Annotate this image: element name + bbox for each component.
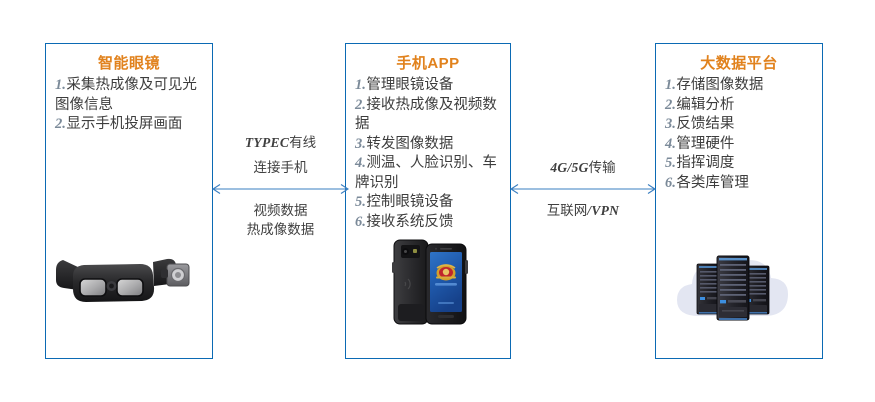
panel-title-smart-glasses: 智能眼镜: [46, 54, 212, 74]
smart-glasses-icon: [49, 238, 209, 326]
list-item: 5.指挥调度: [665, 154, 818, 174]
list-item-number: 3.: [665, 116, 676, 132]
list-item: 3.转发图像数据: [355, 135, 506, 155]
connector-label-below-line2: 热成像数据: [208, 220, 353, 239]
list-item-label: 各类库管理: [676, 175, 749, 191]
list-item-number: 2.: [55, 116, 66, 132]
list-item-number: 2.: [665, 97, 676, 113]
list-item: 1.采集热成像及可见光图像信息: [55, 76, 208, 115]
list-item: 6.各类库管理: [665, 174, 818, 194]
list-item-label: 转发图像数据: [366, 136, 453, 152]
list-item-label: 编辑分析: [676, 97, 734, 113]
list-item-number: 4.: [355, 155, 366, 171]
list-item: 6.接收系统反馈: [355, 213, 506, 233]
list-item: 1.存储图像数据: [665, 76, 818, 96]
connector-app-platform: 4G/5G传输 互联网/VPN: [506, 133, 660, 220]
list-item-label: 采集热成像及可见光图像信息: [55, 77, 197, 113]
arrow-bidirectional-app-platform: [506, 183, 660, 195]
connector-label-above: 4G/5G传输: [506, 158, 660, 177]
list-item-number: 6.: [355, 214, 366, 230]
list-item: 5.控制眼镜设备: [355, 193, 506, 213]
list-item-number: 1.: [355, 77, 366, 93]
list-item-number: 4.: [665, 136, 676, 152]
double-arrow-icon: [506, 183, 660, 195]
server-rack-cloud-icon: [659, 234, 819, 336]
list-item-label: 接收系统反馈: [366, 214, 453, 230]
list-item-number: 1.: [665, 77, 676, 93]
server-cloud-image: [656, 234, 822, 340]
list-item-label: 显示手机投屏画面: [66, 116, 182, 132]
connector-label-above-cjk: 传输: [589, 160, 616, 175]
list-item-label: 反馈结果: [676, 116, 734, 132]
connector-label-above: TYPEC有线: [208, 133, 353, 152]
list-item-label: 管理硬件: [676, 136, 734, 152]
smart-glasses-image: [46, 238, 212, 330]
connector-label-above-cjk: 有线: [289, 135, 316, 150]
panel-smart-glasses: 智能眼镜 1.采集热成像及可见光图像信息 2.显示手机投屏画面: [45, 43, 213, 359]
connector-label-above-latin: TYPEC: [245, 135, 289, 150]
connector-label-below-text: 互联网/VPN: [547, 203, 619, 218]
connector-label-below-line1: 视频数据: [208, 201, 353, 220]
list-item-number: 5.: [665, 155, 676, 171]
list-item-label: 测温、人脸识别、车牌识别: [355, 155, 497, 191]
feature-list-smart-glasses: 1.采集热成像及可见光图像信息 2.显示手机投屏画面: [46, 76, 212, 135]
list-item-number: 1.: [55, 77, 66, 93]
list-item-number: 6.: [665, 175, 676, 191]
list-item-number: 3.: [355, 136, 366, 152]
diagram-canvas: 智能眼镜 1.采集热成像及可见光图像信息 2.显示手机投屏画面: [0, 0, 875, 402]
smartphone-image: [346, 232, 510, 336]
list-item-label: 指挥调度: [676, 155, 734, 171]
feature-list-phone-app: 1.管理眼镜设备 2.接收热成像及视频数据 3.转发图像数据 4.测温、人脸识别…: [346, 76, 510, 232]
arrow-bidirectional-glasses-app: [208, 183, 353, 195]
list-item: 2.显示手机投屏画面: [55, 115, 208, 135]
list-item-label: 控制眼镜设备: [366, 194, 453, 210]
list-item-label: 存储图像数据: [676, 77, 763, 93]
list-item-label: 接收热成像及视频数据: [355, 97, 497, 133]
list-item-number: 5.: [355, 194, 366, 210]
panel-title-phone-app: 手机APP: [346, 54, 510, 74]
panel-title-big-data-platform: 大数据平台: [656, 54, 822, 74]
panel-phone-app: 手机APP 1.管理眼镜设备 2.接收热成像及视频数据 3.转发图像数据 4.测…: [345, 43, 511, 359]
connector-label-above-latin: 4G/5G: [550, 160, 588, 175]
connector-glasses-app: TYPEC有线 连接手机 视频数据 热成像数据: [208, 133, 353, 239]
list-item: 2.编辑分析: [665, 96, 818, 116]
connector-label-above-line2: 连接手机: [208, 158, 353, 177]
list-item: 4.测温、人脸识别、车牌识别: [355, 154, 506, 193]
list-item-label: 管理眼镜设备: [366, 77, 453, 93]
list-item-number: 2.: [355, 97, 366, 113]
panel-big-data-platform: 大数据平台 1.存储图像数据 2.编辑分析 3.反馈结果 4.管理硬件 5.指挥…: [655, 43, 823, 359]
list-item: 1.管理眼镜设备: [355, 76, 506, 96]
connector-label-below-line1: 互联网/VPN: [506, 201, 660, 220]
list-item: 4.管理硬件: [665, 135, 818, 155]
double-arrow-icon: [208, 183, 353, 195]
feature-list-big-data-platform: 1.存储图像数据 2.编辑分析 3.反馈结果 4.管理硬件 5.指挥调度 6.各…: [656, 76, 822, 193]
list-item: 2.接收热成像及视频数据: [355, 96, 506, 135]
list-item: 3.反馈结果: [665, 115, 818, 135]
smartphone-icon: [368, 232, 488, 332]
